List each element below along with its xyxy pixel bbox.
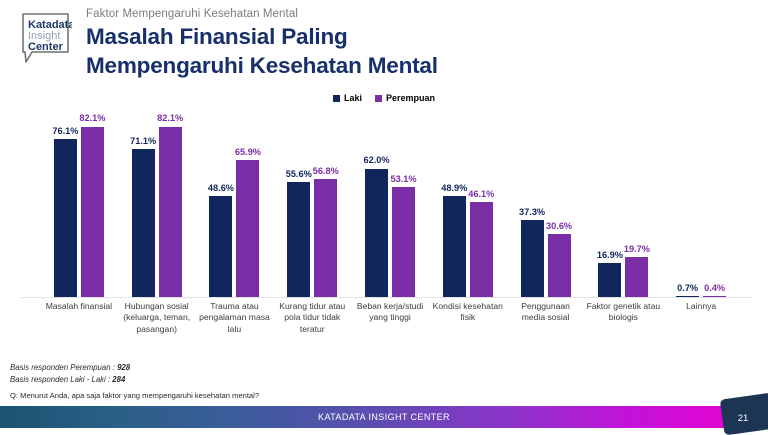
grouped-bar-chart: 76.1%82.1%71.1%82.1%48.6%65.9%55.6%56.8%… (40, 110, 740, 298)
footer-bar: KATADATA INSIGHT CENTER 21 (0, 406, 768, 428)
bar-column-perempuan[interactable]: 82.1% (159, 110, 182, 298)
legend-swatch-laki (333, 95, 340, 102)
bar-value-label: 56.8% (313, 167, 339, 176)
bar-value-label: 55.6% (286, 170, 312, 179)
bar-column-perempuan[interactable]: 65.9% (236, 110, 259, 298)
bar-column-laki[interactable]: 76.1% (54, 110, 77, 298)
bar-laki[interactable] (598, 263, 621, 298)
bar-value-label: 76.1% (52, 127, 78, 136)
bar-perempuan[interactable] (470, 202, 493, 298)
bar-column-laki[interactable]: 55.6% (287, 110, 310, 298)
bar-column-laki[interactable]: 37.3% (521, 110, 544, 298)
survey-question: Q: Menurut Anda, apa saja faktor yang me… (10, 390, 259, 402)
page-title: Masalah Finansial Paling Mempengaruhi Ke… (86, 23, 438, 81)
bar-laki[interactable] (521, 220, 544, 298)
bar-group: 37.3%30.6% (507, 110, 585, 298)
bar-column-perempuan[interactable]: 56.8% (314, 110, 337, 298)
bar-group: 0.7%0.4% (662, 110, 740, 298)
svg-text:Center: Center (28, 41, 64, 53)
bar-laki[interactable] (54, 139, 77, 298)
footer-brand-text: KATADATA INSIGHT CENTER (0, 406, 768, 428)
basis-laki-value: 284 (112, 375, 125, 384)
chart-baseline-axis (20, 297, 752, 298)
basis-perempuan-value: 928 (117, 363, 130, 372)
bar-column-laki[interactable]: 48.6% (209, 110, 232, 298)
category-label: Hubungan sosial (keluarga, teman, pasang… (118, 301, 196, 335)
bar-perempuan[interactable] (548, 234, 571, 298)
category-label: Kondisi kesehatan fisik (429, 301, 507, 335)
bar-group: 48.6%65.9% (196, 110, 274, 298)
bar-group: 16.9%19.7% (584, 110, 662, 298)
bar-perempuan[interactable] (159, 127, 182, 298)
bar-value-label: 0.4% (704, 284, 725, 293)
bar-value-label: 53.1% (390, 175, 416, 184)
chart-legend: Laki Perempuan (0, 93, 768, 103)
category-label: Faktor genetik atau biologis (584, 301, 662, 335)
bar-value-label: 48.9% (441, 184, 467, 193)
chart-plot-area: 76.1%82.1%71.1%82.1%48.6%65.9%55.6%56.8%… (40, 110, 740, 298)
bar-value-label: 62.0% (363, 156, 389, 165)
bar-value-label: 71.1% (130, 137, 156, 146)
category-label: Kurang tidur atau pola tidur tidak terat… (273, 301, 351, 335)
bar-value-label: 46.1% (468, 190, 494, 199)
legend-label-perempuan: Perempuan (386, 93, 435, 103)
bar-column-perempuan[interactable]: 53.1% (392, 110, 415, 298)
bar-value-label: 19.7% (624, 245, 650, 254)
bar-laki[interactable] (365, 169, 388, 299)
chart-category-labels: Masalah finansialHubungan sosial (keluar… (40, 301, 740, 335)
bar-value-label: 82.1% (157, 114, 183, 123)
category-label: Masalah finansial (40, 301, 118, 335)
bar-group: 48.9%46.1% (429, 110, 507, 298)
bar-perempuan[interactable] (81, 127, 104, 298)
bar-laki[interactable] (209, 196, 232, 298)
bar-value-label: 82.1% (79, 114, 105, 123)
basis-perempuan-note: Basis responden Perempuan : 928 (10, 362, 259, 374)
bar-laki[interactable] (287, 182, 310, 298)
slide: Katadata Insight Center Faktor Mempengar… (0, 0, 768, 428)
bar-column-perempuan[interactable]: 30.6% (548, 110, 571, 298)
bar-group: 76.1%82.1% (40, 110, 118, 298)
chart-footnotes: Basis responden Perempuan : 928 Basis re… (10, 362, 259, 402)
bar-column-laki[interactable]: 62.0% (365, 110, 388, 298)
legend-label-laki: Laki (344, 93, 362, 103)
basis-laki-note: Basis responden Laki - Laki : 284 (10, 374, 259, 386)
bar-group: 62.0%53.1% (351, 110, 429, 298)
slide-kicker: Faktor Mempengaruhi Kesehatan Mental (86, 8, 298, 20)
bar-perempuan[interactable] (392, 187, 415, 298)
bar-laki[interactable] (443, 196, 466, 298)
bar-group: 55.6%56.8% (273, 110, 351, 298)
bar-laki[interactable] (132, 149, 155, 298)
bar-perempuan[interactable] (236, 160, 259, 298)
bar-value-label: 30.6% (546, 222, 572, 231)
legend-item-laki[interactable]: Laki (333, 93, 362, 103)
bar-column-laki[interactable]: 0.7% (676, 110, 699, 298)
legend-item-perempuan[interactable]: Perempuan (375, 93, 435, 103)
bar-column-perempuan[interactable]: 19.7% (625, 110, 648, 298)
bar-column-perempuan[interactable]: 46.1% (470, 110, 493, 298)
bar-value-label: 37.3% (519, 208, 545, 217)
bar-column-laki[interactable]: 71.1% (132, 110, 155, 298)
bar-column-laki[interactable]: 16.9% (598, 110, 621, 298)
bar-value-label: 65.9% (235, 148, 261, 157)
bar-value-label: 16.9% (597, 251, 623, 260)
katadata-insight-center-logo: Katadata Insight Center (14, 10, 72, 66)
bar-perempuan[interactable] (625, 257, 648, 298)
legend-swatch-perempuan (375, 95, 382, 102)
category-label: Lainnya (662, 301, 740, 335)
category-label: Penggunaan media sosial (507, 301, 585, 335)
bar-group: 71.1%82.1% (118, 110, 196, 298)
bar-perempuan[interactable] (314, 179, 337, 298)
bar-column-perempuan[interactable]: 82.1% (81, 110, 104, 298)
category-label: Trauma atau pengalaman masa lalu (196, 301, 274, 335)
page-number: 21 (726, 413, 760, 424)
bar-value-label: 48.6% (208, 184, 234, 193)
bar-column-laki[interactable]: 48.9% (443, 110, 466, 298)
category-label: Beban kerja/studi yang tinggi (351, 301, 429, 335)
bar-value-label: 0.7% (677, 284, 698, 293)
bar-column-perempuan[interactable]: 0.4% (703, 110, 726, 298)
